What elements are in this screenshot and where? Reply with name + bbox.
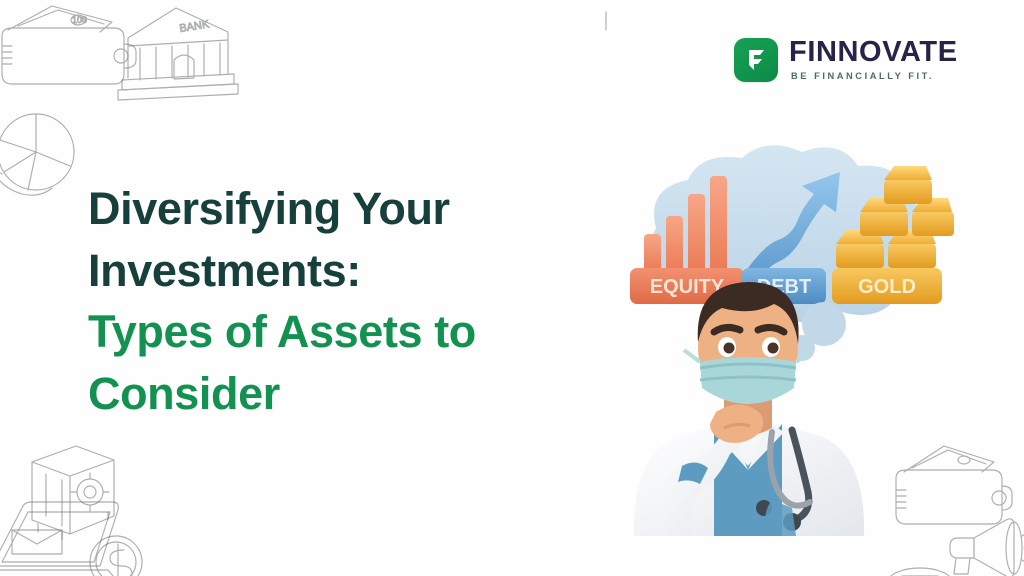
pie-chart-doodle-left [0,104,88,214]
brand-lockup-text: FINNOVATE BE FINANCIALLY FIT. [789,38,958,81]
coin-doodle-bottom-right [880,548,960,576]
megaphone-doodle-bottom-right [944,512,1024,576]
brand-tagline: BE FINANCIALLY FIT. [789,72,958,81]
wallet-doodle-top-left: 100 [0,0,144,96]
laptop-doodle-bottom-left [0,500,146,576]
page-title: Diversifying Your Investments: Types of … [88,178,608,425]
brand-logo[interactable]: FINNOVATE BE FINANCIALLY FIT. [734,38,958,82]
asset-gold-label: GOLD [858,276,916,298]
svg-text:100: 100 [72,15,87,25]
accent-mark-doodle-top [596,6,636,46]
bank-doodle-top-left: BANK [112,2,242,102]
headline-line-1: Diversifying Your [88,178,608,240]
svg-text:BANK: BANK [179,18,211,35]
headline-line-3: Types of Assets to [88,301,608,363]
banner-stage: 100 BANK [0,0,1024,576]
headline-line-2: Investments: [88,240,608,302]
headline-line-4: Consider [88,363,608,425]
coin-doodle-bottom-left [82,528,152,576]
hero-illustration: EQUITY DEBT [596,136,956,536]
finnovate-f-mark-icon [734,38,778,82]
safe-doodle-bottom-left [18,440,128,550]
brand-name: FINNOVATE [789,38,958,67]
